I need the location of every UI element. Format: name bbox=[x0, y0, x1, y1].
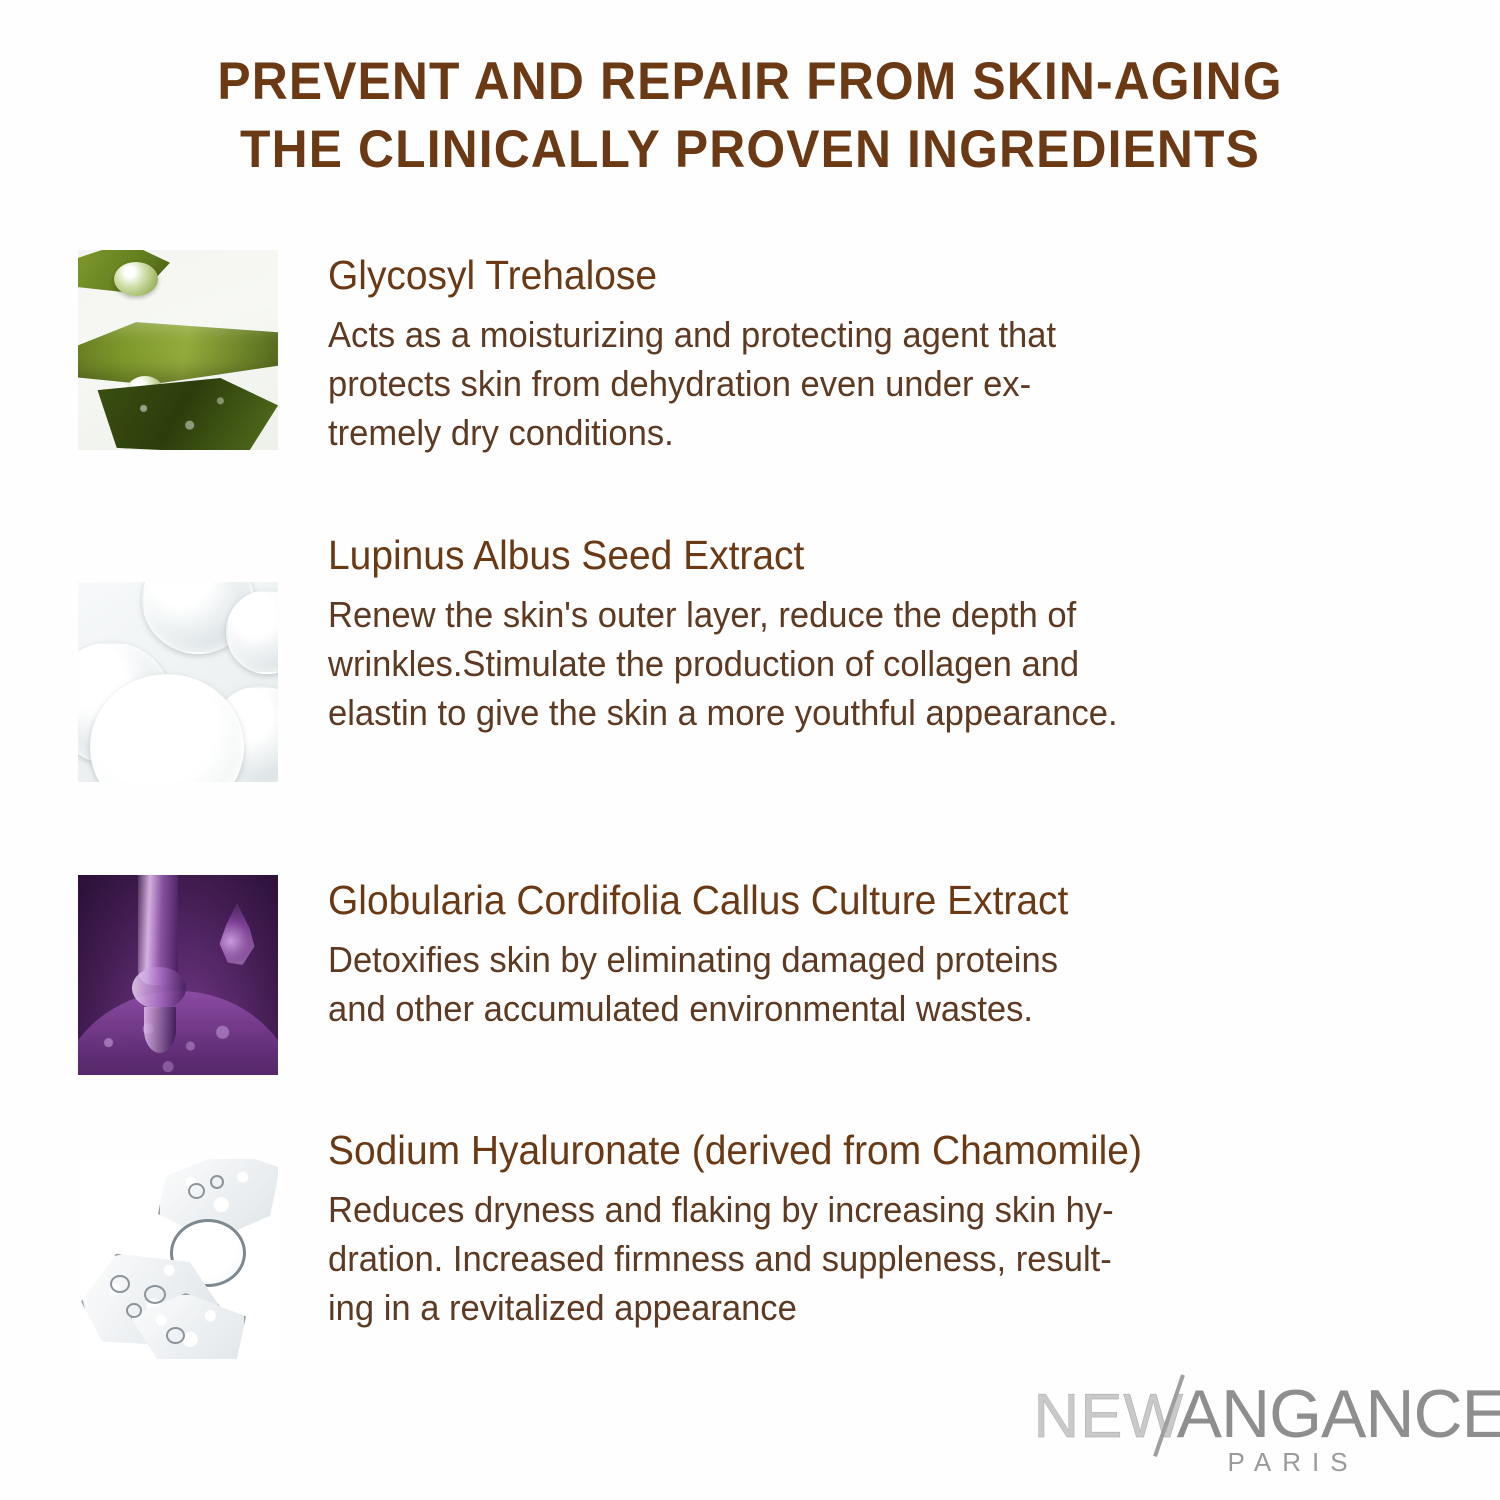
ingredient-description-line: Reduces dryness and flaking by increasin… bbox=[328, 1185, 1415, 1234]
ingredient-description-3: Detoxifies skin by eliminating damaged p… bbox=[328, 935, 1415, 1033]
ingredient-text-col-2: Lupinus Albus Seed Extract Renew the ski… bbox=[328, 530, 1500, 737]
droplet-icon bbox=[214, 903, 260, 965]
ingredient-title-4: Sodium Hyaluronate (derived from Chamomi… bbox=[328, 1125, 1403, 1175]
water-droplet-icon bbox=[114, 262, 158, 296]
ingredient-description-line: dration. Increased firmness and supplene… bbox=[328, 1234, 1415, 1283]
ingredient-description-line: Detoxifies skin by eliminating damaged p… bbox=[328, 935, 1415, 984]
ingredient-description-line: elastin to give the skin a more youthful… bbox=[328, 688, 1415, 737]
brand-logo-wordmark: NEWANGANCE bbox=[1035, 1383, 1455, 1445]
ingredient-item-1: Glycosyl Trehalose Acts as a moisturizin… bbox=[0, 250, 1500, 457]
ingredient-description-line: ing in a revitalized appearance bbox=[328, 1283, 1415, 1332]
ingredient-description-line: and other accumulated environmental wast… bbox=[328, 984, 1415, 1033]
ingredient-text-col-4: Sodium Hyaluronate (derived from Chamomi… bbox=[328, 1125, 1500, 1332]
page-title: PREVENT AND REPAIR FROM SKIN-AGING THE C… bbox=[45, 48, 1455, 184]
ingredient-thumbnail-col-2 bbox=[0, 530, 328, 782]
ampoule-tip-shape bbox=[144, 1007, 176, 1053]
gel-bubble-small bbox=[210, 1175, 224, 1189]
green-leaf-water-droplets-image bbox=[78, 250, 278, 450]
ingredient-description-line: Renew the skin's outer layer, reduce the… bbox=[328, 590, 1415, 639]
water-droplet-icon bbox=[126, 376, 164, 408]
ingredient-description-1: Acts as a moisturizing and protecting ag… bbox=[328, 310, 1415, 457]
brand-logo-angance: ANGANCE bbox=[1177, 1383, 1500, 1445]
brand-logo: NEWANGANCE PARIS bbox=[1035, 1383, 1455, 1483]
ingredient-thumbnail-col-3 bbox=[0, 875, 328, 1075]
ingredient-title-2: Lupinus Albus Seed Extract bbox=[328, 530, 1403, 580]
ingredient-text-col-1: Glycosyl Trehalose Acts as a moisturizin… bbox=[328, 250, 1500, 457]
ampoule-neck-shape bbox=[132, 967, 186, 1009]
clear-gel-bubbles-image bbox=[78, 1159, 278, 1359]
ingredient-description-4: Reduces dryness and flaking by increasin… bbox=[328, 1185, 1415, 1332]
ingredient-title-3: Globularia Cordifolia Callus Culture Ext… bbox=[328, 875, 1403, 925]
ingredient-description-2: Renew the skin's outer layer, reduce the… bbox=[328, 590, 1415, 737]
ingredient-title-1: Glycosyl Trehalose bbox=[328, 250, 1403, 300]
purple-ampoule-droplet-image bbox=[78, 875, 278, 1075]
ingredient-thumbnail-col-4 bbox=[0, 1125, 328, 1359]
ingredient-description-line: wrinkles.Stimulate the production of col… bbox=[328, 639, 1415, 688]
ingredient-description-line: tremely dry conditions. bbox=[328, 408, 1415, 457]
page-title-line-1: PREVENT AND REPAIR FROM SKIN-AGING bbox=[45, 48, 1455, 116]
gel-bubble-small bbox=[166, 1327, 185, 1344]
ingredient-thumbnail-col-1 bbox=[0, 250, 328, 450]
ingredient-item-2: Lupinus Albus Seed Extract Renew the ski… bbox=[0, 530, 1500, 782]
ingredient-item-4: Sodium Hyaluronate (derived from Chamomi… bbox=[0, 1125, 1500, 1359]
ingredient-description-line: protects skin from dehydration even unde… bbox=[328, 359, 1415, 408]
gel-bubble-small bbox=[144, 1285, 166, 1304]
gel-bubble-small bbox=[126, 1303, 142, 1318]
translucent-white-bubbles-image bbox=[78, 582, 278, 782]
ingredient-text-col-3: Globularia Cordifolia Callus Culture Ext… bbox=[328, 875, 1500, 1033]
infographic-page: PREVENT AND REPAIR FROM SKIN-AGING THE C… bbox=[0, 0, 1500, 1500]
liquid-pool-shape bbox=[78, 991, 278, 1075]
page-title-line-2: THE CLINICALLY PROVEN INGREDIENTS bbox=[45, 116, 1455, 184]
gel-bubble-small bbox=[188, 1183, 205, 1199]
ingredient-item-3: Globularia Cordifolia Callus Culture Ext… bbox=[0, 875, 1500, 1075]
ingredient-description-line: Acts as a moisturizing and protecting ag… bbox=[328, 310, 1415, 359]
gel-bubble-small bbox=[110, 1275, 130, 1293]
